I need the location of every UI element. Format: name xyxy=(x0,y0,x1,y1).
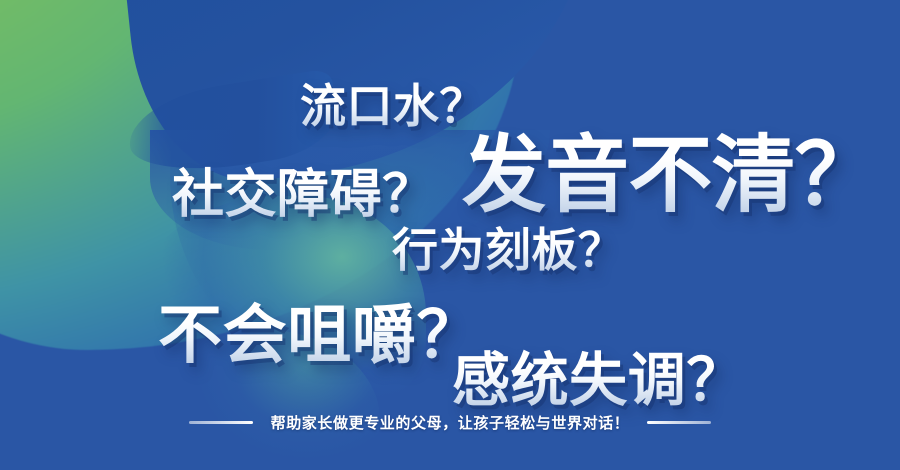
question-sensory-disorder: 感统失调？ xyxy=(452,333,745,417)
tagline-rule-right xyxy=(647,421,711,424)
question-stereotyped-behavior: 行为刻板？ xyxy=(392,214,624,280)
tagline-row: 帮助家长做更专业的父母，让孩子轻松与世界对话！ xyxy=(0,412,900,433)
question-unclear-pronunciation: 发音不清？ xyxy=(462,108,878,229)
question-drooling: 流口水？ xyxy=(300,70,486,136)
question-cannot-chew: 不会咀嚼？ xyxy=(158,284,481,376)
tagline-text: 帮助家长做更专业的父母，让孩子轻松与世界对话！ xyxy=(271,412,630,433)
tagline-rule-left xyxy=(189,421,253,424)
promo-banner: 流口水？ 社交障碍？ 发音不清？ 行为刻板？ 不会咀嚼？ 感统失调？ 帮助家长做… xyxy=(0,0,900,470)
